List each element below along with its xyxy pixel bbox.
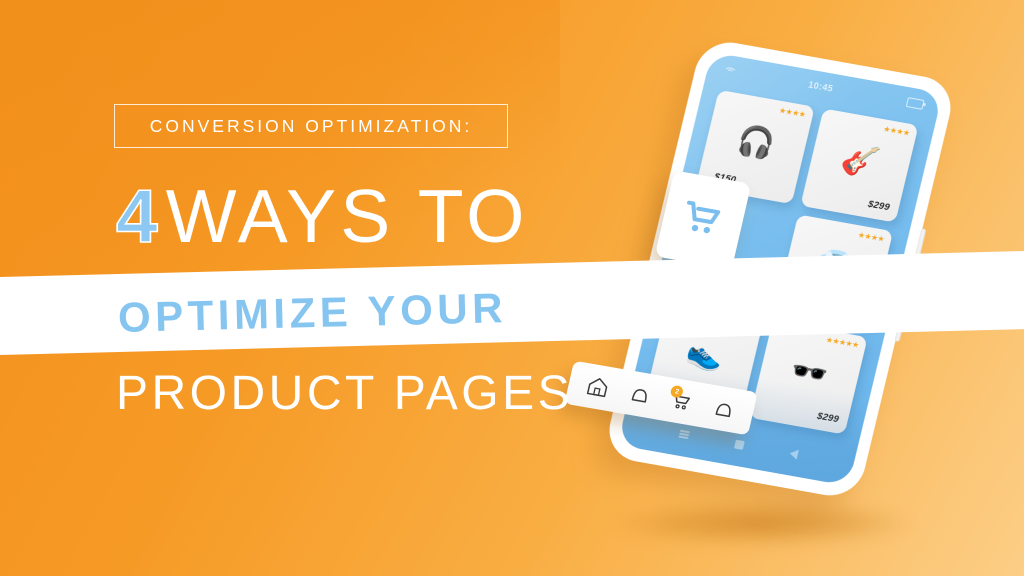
nav-item-cart[interactable]: 2 <box>667 388 696 415</box>
rating-stars: ★★★★★ <box>825 335 860 350</box>
headline-line-3: PRODUCT PAGES <box>116 369 573 419</box>
headphones-icon: 🎧 <box>734 125 778 161</box>
product-card-guitar[interactable]: ★★★★ 🎸 $299 <box>800 108 919 222</box>
product-price: $299 <box>867 199 891 214</box>
headline-line-2: OPTIMIZE YOUR <box>117 286 507 340</box>
status-bar-time: 10:45 <box>807 80 834 94</box>
battery-icon <box>906 97 925 110</box>
square-icon[interactable] <box>734 439 745 449</box>
rating-stars: ★★★★ <box>778 106 806 119</box>
kicker-box: CONVERSION OPTIMIZATION: <box>114 104 508 148</box>
kicker-text: CONVERSION OPTIMIZATION: <box>150 116 473 137</box>
headline-number: 4 <box>116 174 166 258</box>
headline-line-1: 4WAYS TO <box>116 178 529 254</box>
shopping-cart-icon <box>676 197 730 244</box>
bell-icon <box>625 381 654 408</box>
rating-stars: ★★★★ <box>882 124 910 137</box>
back-triangle-icon[interactable] <box>788 448 798 459</box>
nav-item-favorites[interactable] <box>709 395 738 422</box>
heart-icon <box>709 395 738 422</box>
headline-line-1-text: WAYS TO <box>166 174 529 258</box>
nav-item-home[interactable] <box>584 373 613 400</box>
home-icon <box>584 373 613 400</box>
poster-canvas: 10:45 ★★★★ 🎧 $150 ★★★★ 🎸 $299 <box>0 0 1024 576</box>
wifi-icon <box>723 65 736 76</box>
guitar-icon: 🎸 <box>838 144 882 180</box>
nav-item-notifications[interactable] <box>625 381 654 408</box>
menu-icon[interactable] <box>678 430 690 440</box>
rating-stars: ★★★★ <box>857 230 885 243</box>
